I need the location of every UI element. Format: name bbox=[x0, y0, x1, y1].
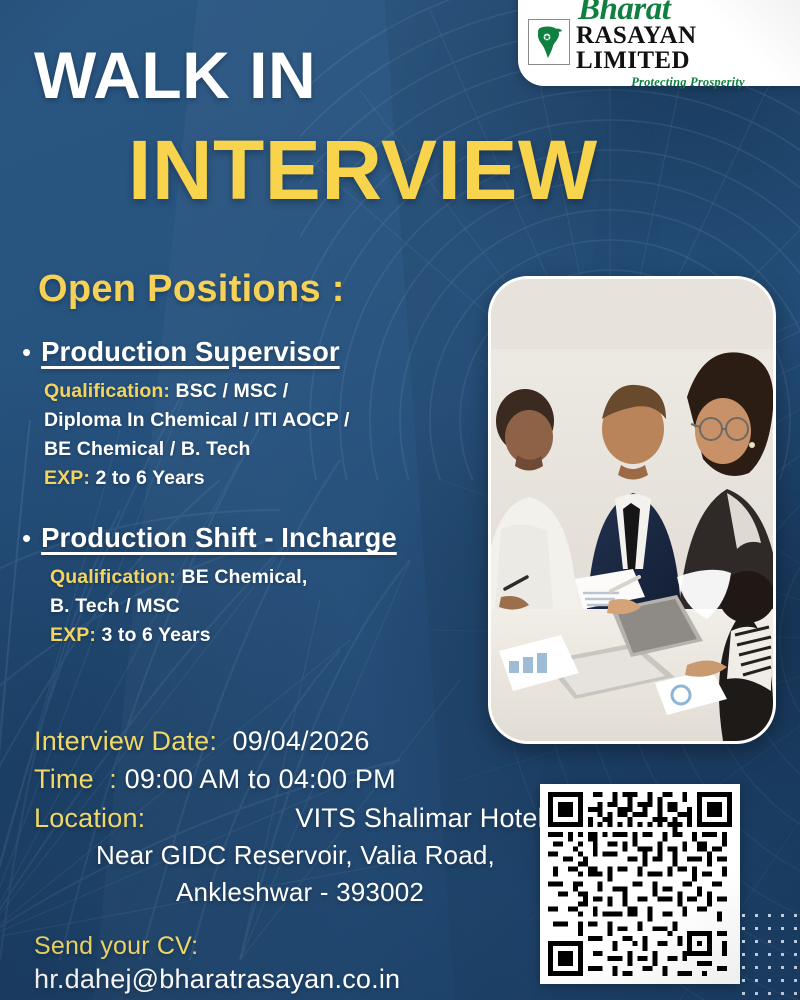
qualification-line: B. Tech / MSC bbox=[50, 592, 488, 621]
position-heading: • Production Shift - Incharge bbox=[18, 522, 488, 554]
recruitment-poster: Bharat RASAYAN LIMITED Protecting Prospe… bbox=[0, 0, 800, 1000]
position-item: • Production Shift - Incharge Qualificat… bbox=[18, 522, 488, 650]
interview-date-row: Interview Date: 09/04/2026 bbox=[34, 722, 554, 760]
photo-illustration bbox=[491, 279, 773, 741]
interview-date-value: 09/04/2026 bbox=[217, 726, 370, 756]
experience-value: 2 to 6 Years bbox=[90, 467, 205, 489]
bullet-icon: • bbox=[22, 525, 31, 551]
interview-date-label: Interview Date: bbox=[34, 726, 217, 756]
logo-tagline: Protecting Prosperity bbox=[576, 76, 800, 89]
qualification-label: Qualification: bbox=[44, 380, 170, 402]
position-details: Qualification: BSC / MSC / Diploma In Ch… bbox=[18, 377, 488, 492]
positions-list: • Production Supervisor Qualification: B… bbox=[18, 336, 488, 664]
experience-label: EXP: bbox=[50, 624, 96, 646]
qualification-label: Qualification: bbox=[50, 566, 176, 588]
qualification-line: Diploma In Chemical / ITI AOCP / bbox=[44, 406, 488, 435]
india-map-icon bbox=[528, 19, 570, 65]
person-foreground-right bbox=[719, 571, 773, 741]
interview-time-row: Time : 09:00 AM to 04:00 PM bbox=[34, 760, 554, 798]
send-cv-label: Send your CV: bbox=[34, 930, 400, 962]
experience-line: EXP: 2 to 6 Years bbox=[44, 464, 488, 493]
interview-time-value: 09:00 AM to 04:00 PM bbox=[117, 764, 396, 794]
interview-time-label: Time : bbox=[34, 764, 117, 794]
qualification-value: BSC / MSC / bbox=[170, 380, 288, 402]
interview-details: Interview Date: 09/04/2026 Time : 09:00 … bbox=[34, 722, 554, 911]
position-heading: • Production Supervisor bbox=[18, 336, 488, 368]
interview-location-row: Location:VITS Shalimar Hotel bbox=[34, 799, 554, 837]
experience-label: EXP: bbox=[44, 467, 90, 489]
logo-wordmark: Bharat RASAYAN LIMITED Protecting Prospe… bbox=[576, 0, 800, 89]
dot-grid-decoration bbox=[740, 912, 800, 996]
bullet-icon: • bbox=[22, 339, 31, 365]
headline-walk-in: WALK IN bbox=[34, 42, 316, 108]
experience-value: 3 to 6 Years bbox=[96, 624, 211, 646]
interview-location-label: Location: bbox=[34, 803, 145, 833]
experience-line: EXP: 3 to 6 Years bbox=[50, 621, 488, 650]
qualification-value: BE Chemical, bbox=[176, 566, 307, 588]
india-map-shape bbox=[535, 25, 563, 59]
company-logo-card: Bharat RASAYAN LIMITED Protecting Prospe… bbox=[518, 0, 800, 86]
contact-block: Send your CV: hr.dahej@bharatrasayan.co.… bbox=[34, 930, 400, 997]
qr-code[interactable] bbox=[540, 784, 740, 984]
headline-interview: INTERVIEW bbox=[128, 128, 598, 212]
open-positions-heading: Open Positions : bbox=[38, 268, 345, 311]
position-title: Production Supervisor bbox=[41, 336, 340, 368]
qr-code-matrix bbox=[548, 792, 732, 976]
business-team-meeting-photo bbox=[488, 276, 776, 744]
qualification-line: Qualification: BE Chemical, bbox=[50, 563, 488, 592]
qualification-line: Qualification: BSC / MSC / bbox=[44, 377, 488, 406]
logo-name-line2: RASAYAN LIMITED bbox=[576, 23, 800, 73]
qualification-line: BE Chemical / B. Tech bbox=[44, 435, 488, 464]
location-line-2: Near GIDC Reservoir, Valia Road, bbox=[34, 837, 554, 874]
contact-email[interactable]: hr.dahej@bharatrasayan.co.in bbox=[34, 962, 400, 997]
position-item: • Production Supervisor Qualification: B… bbox=[18, 336, 488, 492]
position-title: Production Shift - Incharge bbox=[41, 522, 397, 554]
location-line-3: Ankleshwar - 393002 bbox=[34, 874, 554, 911]
location-line-1: VITS Shalimar Hotel bbox=[145, 803, 543, 833]
position-details: Qualification: BE Chemical, B. Tech / MS… bbox=[18, 563, 488, 650]
